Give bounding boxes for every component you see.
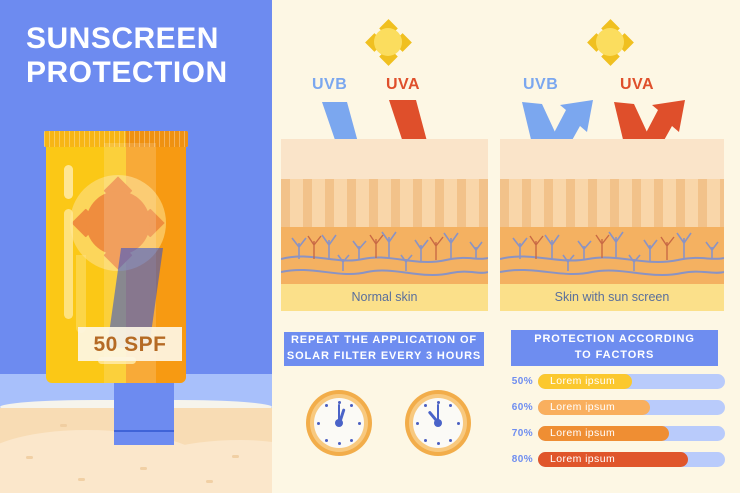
repeat-banner-line-1: REPEAT THE APPLICATION OF: [287, 333, 481, 349]
protection-bar-fill: Lorem ipsum: [538, 452, 688, 467]
protection-bar-label: Lorem ipsum: [550, 400, 615, 415]
protection-bar-label: Lorem ipsum: [550, 452, 615, 467]
protection-bar-label: Lorem ipsum: [550, 426, 615, 441]
protection-bar-track[interactable]: Lorem ipsum: [538, 374, 725, 389]
clock-tick: [317, 422, 320, 425]
protected-skin-caption: Skin with sun screen: [500, 284, 724, 311]
clock-center-pin: [434, 419, 442, 427]
factors-banner-line-2: TO FACTORS: [534, 348, 695, 364]
infographic-canvas: SUNSCREEN PROTECTION: [0, 0, 740, 493]
clock-tick: [457, 422, 460, 425]
protected-skin-diagram: Skin with sun screen: [500, 139, 724, 311]
clock-icon: [405, 390, 471, 456]
protection-bar-fill: Lorem ipsum: [538, 400, 650, 415]
clock-center-pin: [335, 419, 343, 427]
clock-tick: [350, 404, 353, 407]
protection-factors-banner: PROTECTION ACCORDING TO FACTORS: [511, 330, 718, 366]
repeat-banner-line-2: SOLAR FILTER EVERY 3 HOURS: [287, 349, 481, 365]
clock-icon: [306, 390, 372, 456]
protection-bar-track[interactable]: Lorem ipsum: [538, 400, 725, 415]
repeat-application-banner: REPEAT THE APPLICATION OF SOLAR FILTER E…: [284, 332, 484, 366]
clock-tick: [424, 439, 427, 442]
clock-tick: [416, 422, 419, 425]
protection-bar-track[interactable]: Lorem ipsum: [538, 426, 725, 441]
protection-bar-label: Lorem ipsum: [550, 374, 615, 389]
protection-percent-label: 70%: [505, 425, 533, 442]
clock-tick: [449, 404, 452, 407]
protection-percent-label: 60%: [505, 399, 533, 416]
protection-percent-label: 50%: [505, 373, 533, 390]
protection-bar-fill: Lorem ipsum: [538, 426, 669, 441]
clock-tick: [424, 404, 427, 407]
protection-percent-label: 80%: [505, 451, 533, 468]
clock-tick: [358, 422, 361, 425]
protection-bar-fill: Lorem ipsum: [538, 374, 632, 389]
clock-tick: [437, 442, 440, 445]
factors-banner-line-1: PROTECTION ACCORDING: [534, 332, 695, 348]
clock-tick: [325, 439, 328, 442]
protection-bar-track[interactable]: Lorem ipsum: [538, 452, 725, 467]
clock-tick: [449, 439, 452, 442]
clock-tick: [350, 439, 353, 442]
clock-tick: [338, 442, 341, 445]
clock-tick: [325, 404, 328, 407]
